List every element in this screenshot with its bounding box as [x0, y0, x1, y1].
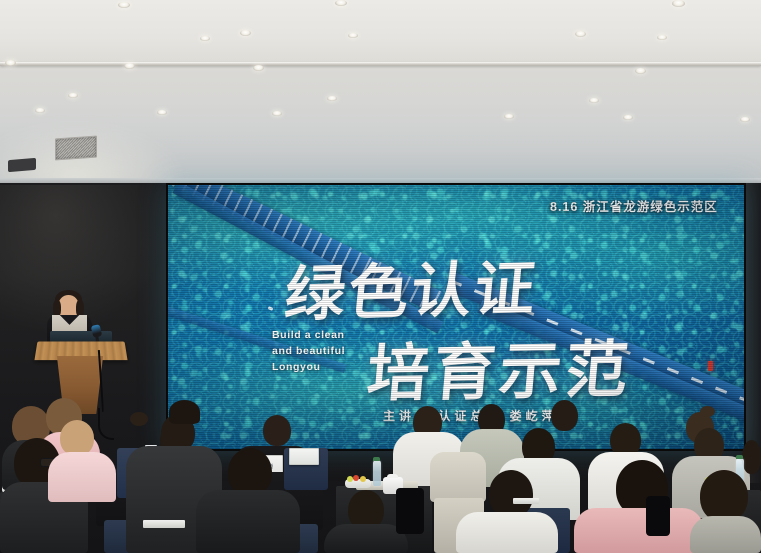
- audience-hair-bun: [700, 406, 715, 417]
- teapot-lid: [387, 474, 398, 478]
- right-wall-panel: [744, 183, 761, 483]
- downlight-icon: [657, 35, 667, 40]
- bottle-cap: [736, 455, 743, 459]
- downlight-icon: [157, 110, 167, 115]
- downlight-icon: [68, 93, 78, 98]
- ceiling-speaker-icon: [8, 158, 36, 172]
- downlight-icon: [635, 68, 646, 74]
- downlight-icon: [118, 2, 130, 8]
- screen-title-line2: 培育示范: [364, 319, 636, 414]
- backpack: [646, 496, 670, 536]
- soffit-edge-trim: [0, 62, 761, 66]
- audience-torso: [690, 516, 761, 553]
- audience-head: [169, 400, 200, 424]
- fruit-icon: [353, 475, 359, 481]
- downlight-icon: [272, 111, 282, 116]
- downlight-icon: [589, 98, 599, 103]
- downlight-icon: [348, 33, 358, 38]
- map-marker-icon: [708, 361, 713, 371]
- downlight-icon: [35, 108, 45, 113]
- audience-hair-bun: [130, 412, 148, 426]
- notebook: [513, 498, 539, 504]
- downlight-icon: [504, 114, 514, 119]
- notebook: [143, 520, 185, 528]
- fruit-icon: [360, 476, 366, 482]
- water-bottle: [373, 460, 381, 486]
- audience-torso: [48, 452, 116, 502]
- audience-head: [700, 470, 748, 522]
- ceiling: [0, 0, 761, 186]
- audience-head: [263, 415, 291, 446]
- ceiling-soffit: [0, 0, 761, 63]
- audience-head: [60, 420, 94, 456]
- conference-hall-photo: 8.16 浙江省龙游绿色示范区 绿色认证 培育示范 Build a clean …: [0, 0, 761, 553]
- downlight-icon: [335, 0, 347, 6]
- audience-torso: [456, 512, 558, 553]
- downlight-icon: [124, 63, 135, 69]
- bottle-cap: [373, 457, 380, 461]
- audience-torso: [574, 508, 704, 553]
- chair-back[interactable]: [430, 452, 486, 502]
- audience-head: [228, 448, 272, 496]
- audience-head: [742, 440, 761, 474]
- downlight-icon: [672, 0, 685, 7]
- screen-title-line1: 绿色认证: [281, 240, 542, 334]
- hvac-vent-grille: [55, 136, 97, 161]
- wall-light-wash: [0, 185, 170, 335]
- backpack: [396, 488, 424, 534]
- downlight-icon: [575, 31, 586, 37]
- screen-english-tagline: Build a clean and beautiful Longyou: [272, 327, 364, 375]
- audience-head: [489, 470, 533, 518]
- downlight-icon: [327, 96, 337, 101]
- downlight-icon: [623, 115, 633, 120]
- downlight-icon: [740, 117, 750, 122]
- downlight-icon: [240, 30, 251, 36]
- audience-head: [551, 400, 578, 431]
- audience-torso: [196, 490, 300, 553]
- screen-presenter-text: 主讲： 认证总工 娄屹萍: [383, 407, 558, 424]
- downlight-icon: [253, 65, 264, 71]
- led-screen[interactable]: 8.16 浙江省龙游绿色示范区 绿色认证 培育示范 Build a clean …: [168, 185, 744, 449]
- name-placard: [289, 448, 319, 465]
- downlight-icon: [5, 60, 16, 66]
- downlight-icon: [200, 36, 210, 41]
- screen-header-text: 8.16 浙江省龙游绿色示范区: [550, 196, 718, 215]
